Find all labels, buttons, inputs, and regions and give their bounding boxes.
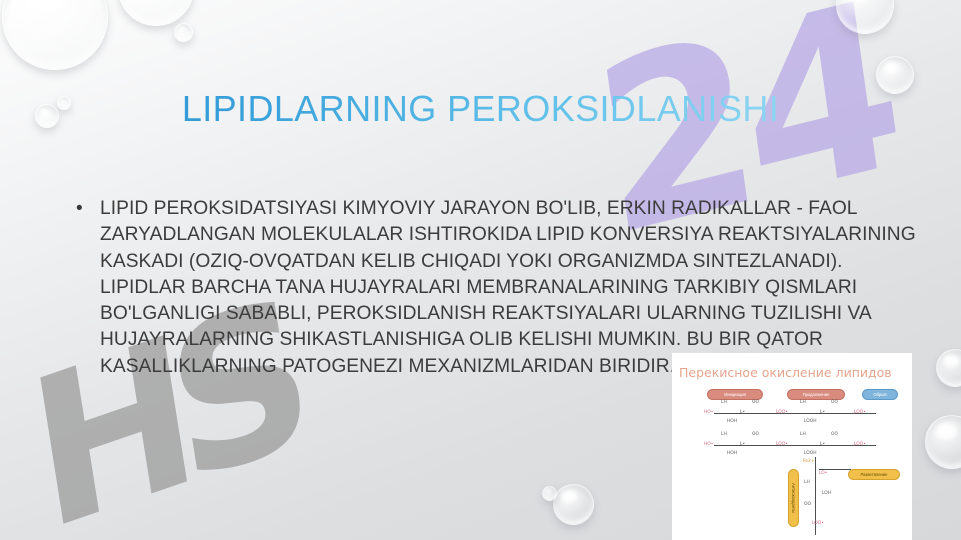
bullet-marker-icon: • (72, 196, 100, 222)
slide-title: LIPIDLARNING PEROKSIDLANISHI (0, 88, 961, 130)
water-droplet (936, 349, 961, 387)
scheme-species-hoh: HOH (727, 419, 737, 424)
scheme-species-lh: LH (800, 432, 806, 437)
scheme-species-fe: Fe2+ (803, 459, 814, 464)
scheme-species-lo: LO• (819, 471, 827, 476)
water-droplet (542, 486, 557, 501)
scheme-arrow (714, 413, 876, 414)
scheme-species-oo: OO (831, 400, 838, 405)
lipid-peroxidation-image[interactable]: Перекисное окисление липидов ИнициацияПр… (672, 353, 912, 540)
peroxidation-scheme-diagram: ИнициацияПродолжениеОбрывLHOOLHOOHO•LOO•… (672, 387, 912, 540)
scheme-species-lh: LH (800, 400, 806, 405)
water-droplet (553, 484, 594, 525)
water-droplet (118, 0, 194, 26)
image-caption: Перекисное окисление липидов (679, 365, 892, 380)
scheme-species-ho: HO• (704, 410, 713, 415)
scheme-species-loo: LOO• (812, 521, 824, 526)
scheme-species-oo: OO (752, 400, 759, 405)
scheme-species-oo: OO (752, 432, 759, 437)
scheme-arrow (714, 445, 876, 446)
scheme-stage-box-propagation: Продолжение (787, 389, 845, 400)
presentation-slide: 24 HS LIPIDLARNING PEROKSIDLANISHI • LIP… (0, 0, 961, 540)
scheme-species-hoh: HOH (727, 451, 737, 456)
water-droplet (2, 0, 108, 70)
scheme-species-lh: LH (721, 432, 727, 437)
water-droplet (174, 23, 193, 42)
water-droplet (836, 0, 894, 34)
scheme-species-oo: OO (831, 432, 838, 437)
scheme-stage-box-initiation: Инициация (707, 389, 763, 400)
scheme-species-loh: LOH (822, 491, 831, 496)
scheme-species-looh: LOOH (804, 419, 817, 424)
scheme-side-box-branching: Разветвление (848, 469, 900, 480)
scheme-species-oo: OO (804, 502, 811, 507)
scheme-species-looh: LOOH (804, 451, 817, 456)
scheme-stage-box-termination: Обрыв (862, 389, 898, 400)
scheme-species-ho: HO• (704, 442, 713, 447)
scheme-species-lh: LH (721, 400, 727, 405)
scheme-species-lh: LH (804, 480, 810, 485)
water-droplet (925, 415, 961, 469)
scheme-side-box-antioxidants: Антиоксиданты (788, 469, 799, 527)
scheme-connector (819, 469, 851, 470)
